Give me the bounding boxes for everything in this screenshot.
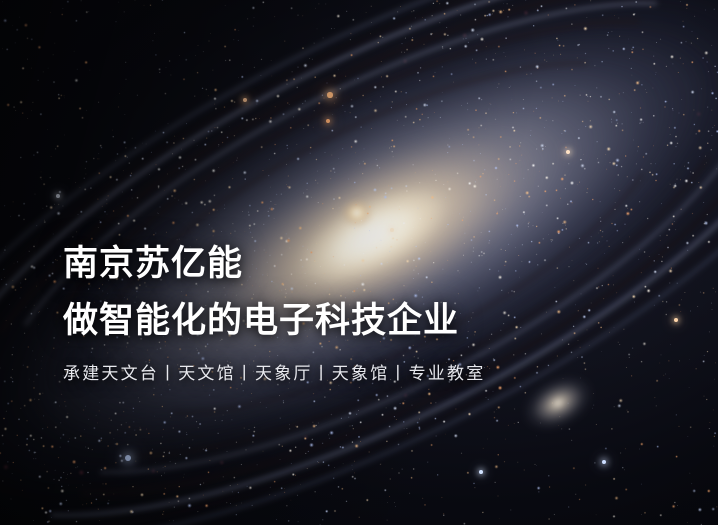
bright-star-blue-lower-left bbox=[125, 455, 131, 461]
bright-star-orange-upper-2 bbox=[326, 119, 330, 123]
hero-copy-block: 南京苏亿能 做智能化的电子科技企业 承建天文台丨天文馆丨天象厅丨天象馆丨专业教室 bbox=[63, 246, 663, 382]
hero-subtitle: 承建天文台丨天文馆丨天象厅丨天象馆丨专业教室 bbox=[63, 365, 663, 382]
bright-star-disk-upper-right bbox=[566, 150, 570, 154]
hero-headline-line-1: 南京苏亿能 bbox=[63, 246, 663, 281]
bright-star-lower-right bbox=[602, 460, 606, 464]
bright-star-bottom-center bbox=[479, 470, 483, 474]
galaxy-dust-lane-3 bbox=[44, 0, 715, 485]
bright-star-amber-upper-left bbox=[243, 98, 247, 102]
companion-galaxy-m32 bbox=[340, 198, 374, 228]
hero-banner: 南京苏亿能 做智能化的电子科技企业 承建天文台丨天文馆丨天象厅丨天象馆丨专业教室 bbox=[0, 0, 718, 525]
hero-headline-line-2: 做智能化的电子科技企业 bbox=[63, 303, 663, 338]
bright-star-orange-upper bbox=[327, 92, 332, 97]
bright-star-right-edge bbox=[674, 318, 678, 322]
bright-star-left-edge bbox=[56, 194, 60, 198]
bright-star-near-core bbox=[390, 228, 394, 232]
